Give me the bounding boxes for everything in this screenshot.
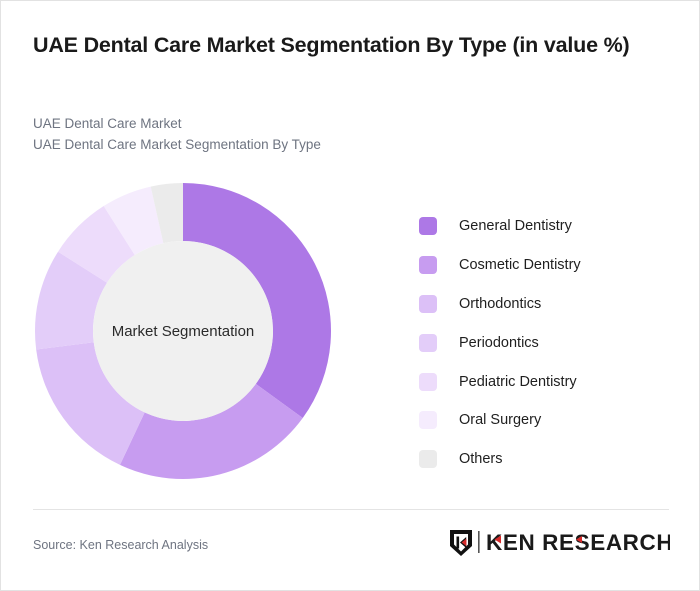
source-text: Source: Ken Research Analysis — [33, 538, 208, 552]
footer-divider — [33, 509, 669, 510]
legend-label: Periodontics — [459, 335, 539, 351]
legend-swatch — [419, 450, 437, 468]
svg-text:KEN RESEARCH: KEN RESEARCH — [486, 530, 670, 555]
legend-swatch — [419, 373, 437, 391]
legend-item[interactable]: Oral Surgery — [419, 401, 679, 440]
legend-item[interactable]: Orthodontics — [419, 285, 679, 324]
logo-svg: KEN RESEARCH — [448, 527, 670, 557]
legend-label: Pediatric Dentistry — [459, 374, 577, 390]
chart-area: Market Segmentation General DentistryCos… — [1, 1, 700, 501]
ken-research-logo: KEN RESEARCH — [448, 525, 670, 559]
legend-swatch — [419, 411, 437, 429]
legend-label: Oral Surgery — [459, 412, 541, 428]
legend-label: Cosmetic Dentistry — [459, 257, 581, 273]
donut-hole — [93, 241, 273, 421]
legend-item[interactable]: Cosmetic Dentistry — [419, 246, 679, 285]
donut-svg — [34, 182, 332, 480]
legend-label: Others — [459, 451, 503, 467]
legend-label: General Dentistry — [459, 218, 572, 234]
legend-item[interactable]: Others — [419, 440, 679, 479]
chart-card: UAE Dental Care Market Segmentation By T… — [0, 0, 700, 591]
legend-swatch — [419, 256, 437, 274]
donut-chart: Market Segmentation — [34, 182, 332, 480]
chart-legend: General DentistryCosmetic DentistryOrtho… — [419, 207, 679, 479]
legend-item[interactable]: Periodontics — [419, 323, 679, 362]
legend-swatch — [419, 295, 437, 313]
legend-label: Orthodontics — [459, 296, 541, 312]
legend-swatch — [419, 334, 437, 352]
legend-item[interactable]: Pediatric Dentistry — [419, 362, 679, 401]
legend-item[interactable]: General Dentistry — [419, 207, 679, 246]
legend-swatch — [419, 217, 437, 235]
